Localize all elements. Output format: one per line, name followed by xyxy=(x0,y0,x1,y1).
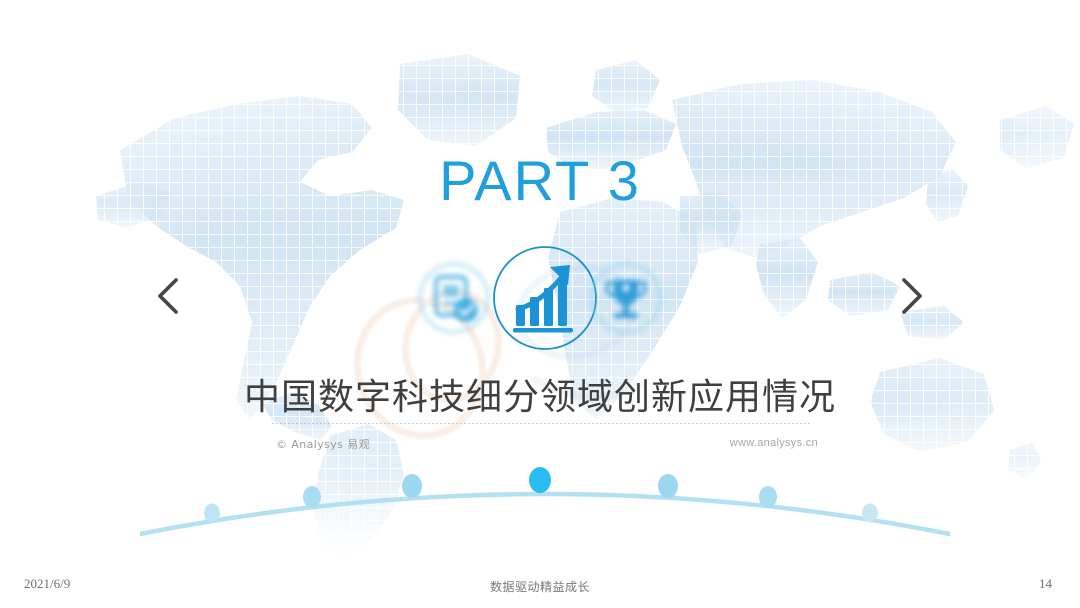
progress-dot[interactable] xyxy=(862,504,878,523)
progress-dot[interactable] xyxy=(759,486,777,508)
copyright-credit: © Analysys 易观 xyxy=(276,436,370,452)
progress-dot[interactable] xyxy=(402,474,422,498)
previous-slide-arrow[interactable] xyxy=(148,272,192,320)
progress-dot[interactable] xyxy=(204,504,220,523)
slide-progress-arc[interactable] xyxy=(140,462,950,544)
part-label: PART 3 xyxy=(0,148,1080,213)
website-url: www.analysys.cn xyxy=(730,437,818,449)
title-divider xyxy=(272,423,812,424)
presentation-slide: PART 3 xyxy=(0,0,1080,608)
page-title: 中国数字科技细分领域创新应用情况 xyxy=(0,368,1080,420)
footer-tagline: 数据驱动精益成长 xyxy=(0,578,1080,595)
slide-footer: 2021/6/9 数据驱动精益成长 14 xyxy=(0,564,1080,608)
progress-dot[interactable] xyxy=(303,486,321,508)
document-check-icon xyxy=(416,260,492,336)
footer-page-number: 14 xyxy=(1039,576,1052,592)
section-icon-cluster xyxy=(398,243,682,353)
next-slide-arrow[interactable] xyxy=(888,272,932,320)
progress-dot-active[interactable] xyxy=(529,467,551,493)
progress-arc-line xyxy=(140,494,950,534)
trophy-icon xyxy=(588,260,664,336)
bar-chart-growth-icon xyxy=(490,243,600,353)
progress-dot[interactable] xyxy=(658,474,678,498)
